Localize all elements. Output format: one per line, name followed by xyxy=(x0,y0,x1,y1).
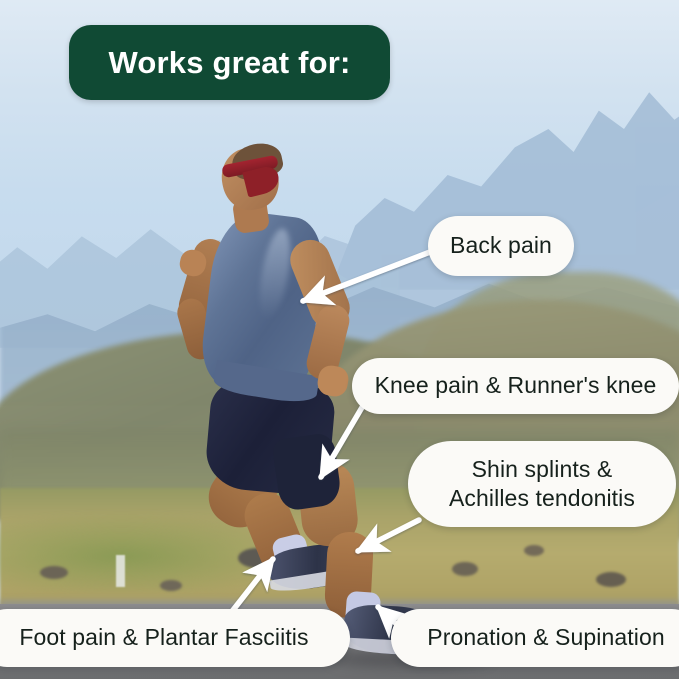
callout-back-pain: Back pain xyxy=(428,216,574,276)
running-man-figure xyxy=(0,0,679,679)
callout-knee-pain: Knee pain & Runner's knee xyxy=(352,358,679,414)
header-badge-label: Works great for: xyxy=(108,45,350,81)
header-badge: Works great for: xyxy=(69,25,390,100)
callout-shin-splints: Shin splints & Achilles tendonitis xyxy=(408,441,676,527)
promo-image-scene: Works great for: Back pain Knee pain & R… xyxy=(0,0,679,679)
callout-foot-pain: Foot pain & Plantar Fasciitis xyxy=(0,609,350,667)
shorts-front-leg xyxy=(271,432,342,512)
callout-pronation: Pronation & Supination xyxy=(391,609,679,667)
